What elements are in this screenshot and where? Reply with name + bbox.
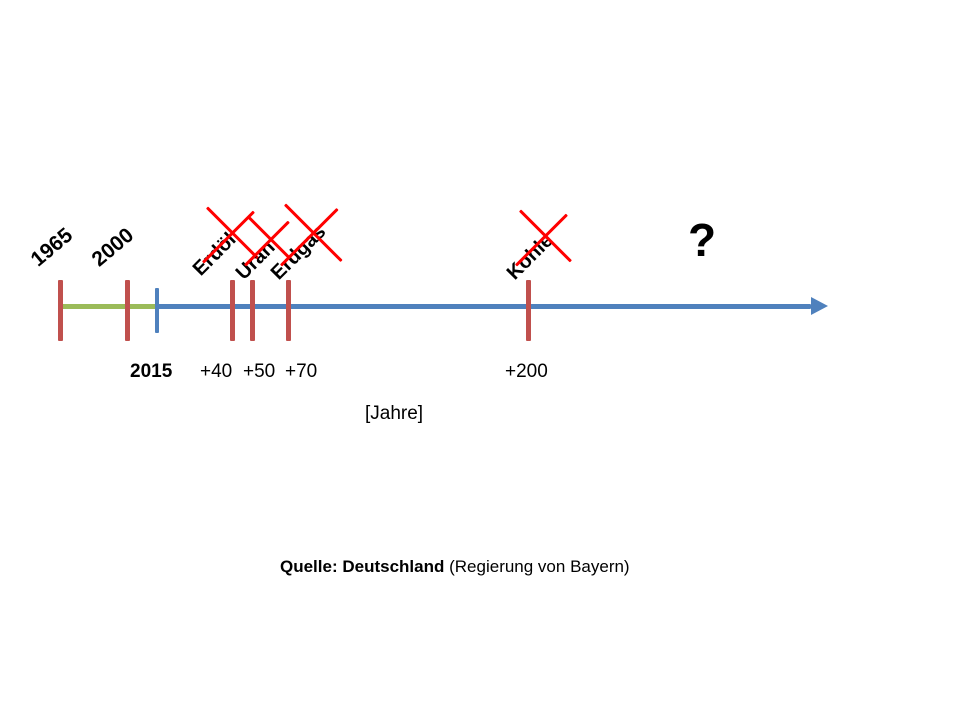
tick-erdoel <box>230 280 235 341</box>
scale-label-plus70: +70 <box>285 361 317 383</box>
tick-2000 <box>125 280 130 341</box>
future-question-mark: ? <box>688 217 716 263</box>
axis-unit-label: [Jahre] <box>365 403 423 425</box>
year-label-1965: 1965 <box>27 224 78 272</box>
timeline-green-segment <box>60 304 158 309</box>
year-label-2000: 2000 <box>88 224 139 272</box>
slide-canvas: 1965 2000 Erdöl Uran Erdgas Kohle ? 2015… <box>0 0 960 720</box>
tick-erdgas <box>286 280 291 341</box>
source-sub-text: (Regierung von Bayern) <box>449 557 629 576</box>
scale-label-plus200: +200 <box>505 361 548 383</box>
source-attribution: Quelle: Deutschland (Regierung von Bayer… <box>280 557 630 577</box>
scale-label-plus50: +50 <box>243 361 275 383</box>
tick-uran <box>250 280 255 341</box>
scale-label-plus40: +40 <box>200 361 232 383</box>
scale-label-2015: 2015 <box>130 361 172 383</box>
tick-1965 <box>58 280 63 341</box>
tick-kohle <box>526 280 531 341</box>
timeline-arrow-head-icon <box>811 297 828 315</box>
source-main-text: Quelle: Deutschland <box>280 557 444 576</box>
tick-2015 <box>155 288 159 333</box>
